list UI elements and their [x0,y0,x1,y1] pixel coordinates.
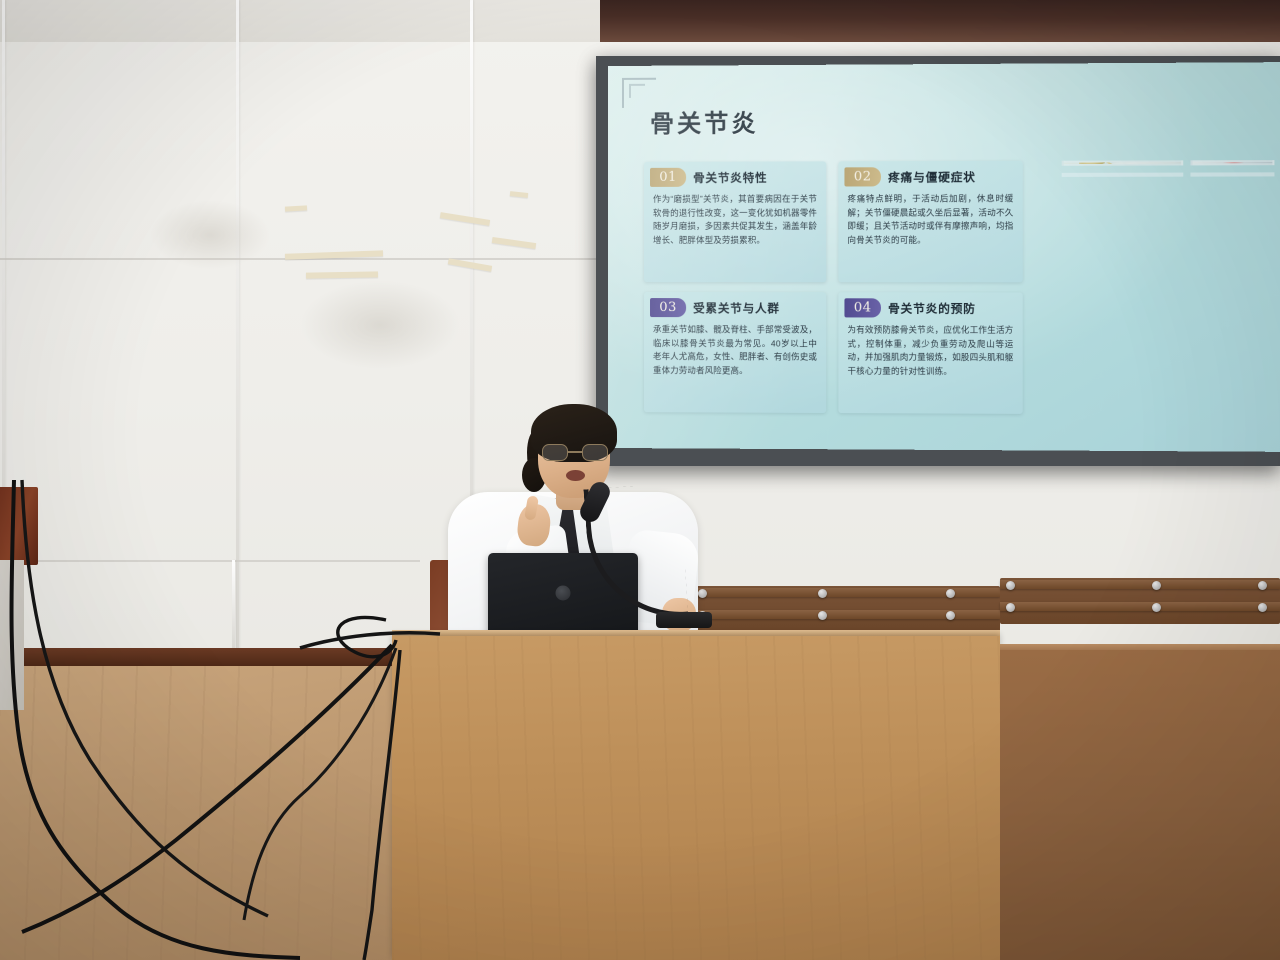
podium-desk [392,636,1000,960]
podium-desk-right [1000,650,1280,960]
bench-slat [1000,602,1280,611]
bench-bolt [1258,603,1267,612]
bench-bolt [1152,581,1161,590]
wall-smudge [300,280,460,370]
lecture-hall-scene: 骨关节炎 01 骨关节炎特性 作为“磨损型”关节炎，其首要病因在于关节软骨的退行… [0,0,1280,960]
laptop-logo-icon [556,586,571,601]
bench-bolt [1006,581,1015,590]
bench-bolt [946,589,955,598]
mouth [566,470,585,481]
bench-bolt [818,589,827,598]
bench-slat [1000,580,1280,589]
tape-residue [306,271,378,278]
bench-bolt [1152,603,1161,612]
bench-bolt [946,611,955,620]
bench-row [1000,578,1280,624]
bench-bolt [1258,581,1267,590]
ceiling-wood-band [600,0,1280,42]
floor-cables [0,480,420,960]
desk-cable [300,600,460,660]
bench-bolt [818,611,827,620]
wall-upper-band-left [0,0,600,42]
bench-bolt [1006,603,1015,612]
glasses-icon [542,444,608,461]
bench-row [690,586,1000,632]
wall-smudge [150,200,270,270]
microphone-base[interactable] [656,612,712,628]
